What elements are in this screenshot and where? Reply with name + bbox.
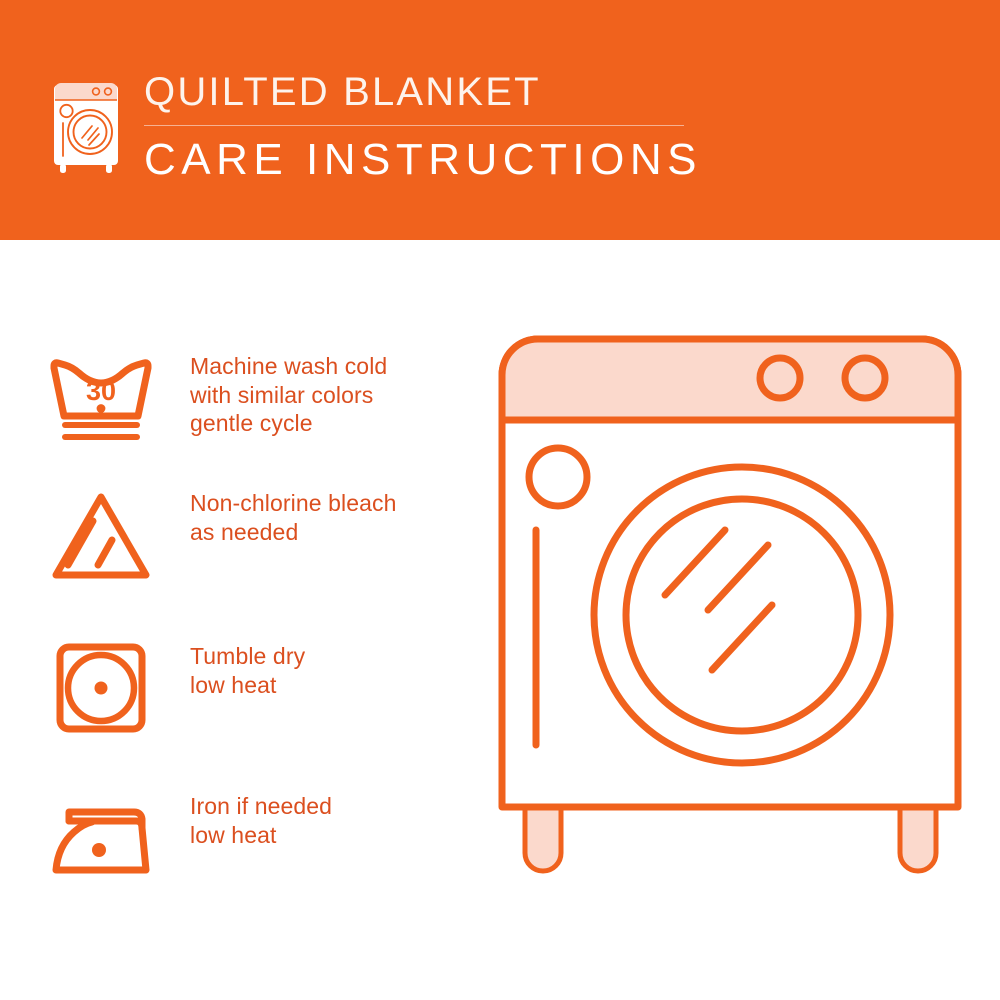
care-label-tumble-dry: Tumble dry low heat [190,638,305,699]
tumble-dry-low-heat-symbol [46,638,176,738]
page-subtitle: CARE INSTRUCTIONS [144,134,744,186]
care-label-iron: Iron if needed low heat [190,788,332,849]
care-row-iron: Iron if needed low heat [46,788,486,888]
title-divider [144,125,684,126]
care-row-bleach: Non-chlorine bleach as needed [46,485,486,585]
header-banner: QUILTED BLANKET CARE INSTRUCTIONS [0,0,1000,240]
iron-low-heat-symbol [46,788,176,888]
header-title-block: QUILTED BLANKET CARE INSTRUCTIONS [144,68,744,186]
care-instruction-list: 30 Machine wash cold with similar colors… [0,240,500,1000]
washing-machine-icon [46,66,130,176]
care-row-machine-wash: 30 Machine wash cold with similar colors… [46,348,486,448]
page-title: QUILTED BLANKET [144,68,744,116]
care-instructions-infographic: QUILTED BLANKET CARE INSTRUCTIONS 30 [0,0,1000,1000]
non-chlorine-bleach-symbol [46,485,176,585]
front-load-washing-machine-illustration [480,325,980,940]
wash-temperature-value: 30 [86,376,116,406]
care-label-machine-wash: Machine wash cold with similar colors ge… [190,348,387,438]
care-row-tumble-dry: Tumble dry low heat [46,638,486,738]
machine-wash-30-gentle-symbol: 30 [46,348,176,448]
care-label-bleach: Non-chlorine bleach as needed [190,485,396,546]
